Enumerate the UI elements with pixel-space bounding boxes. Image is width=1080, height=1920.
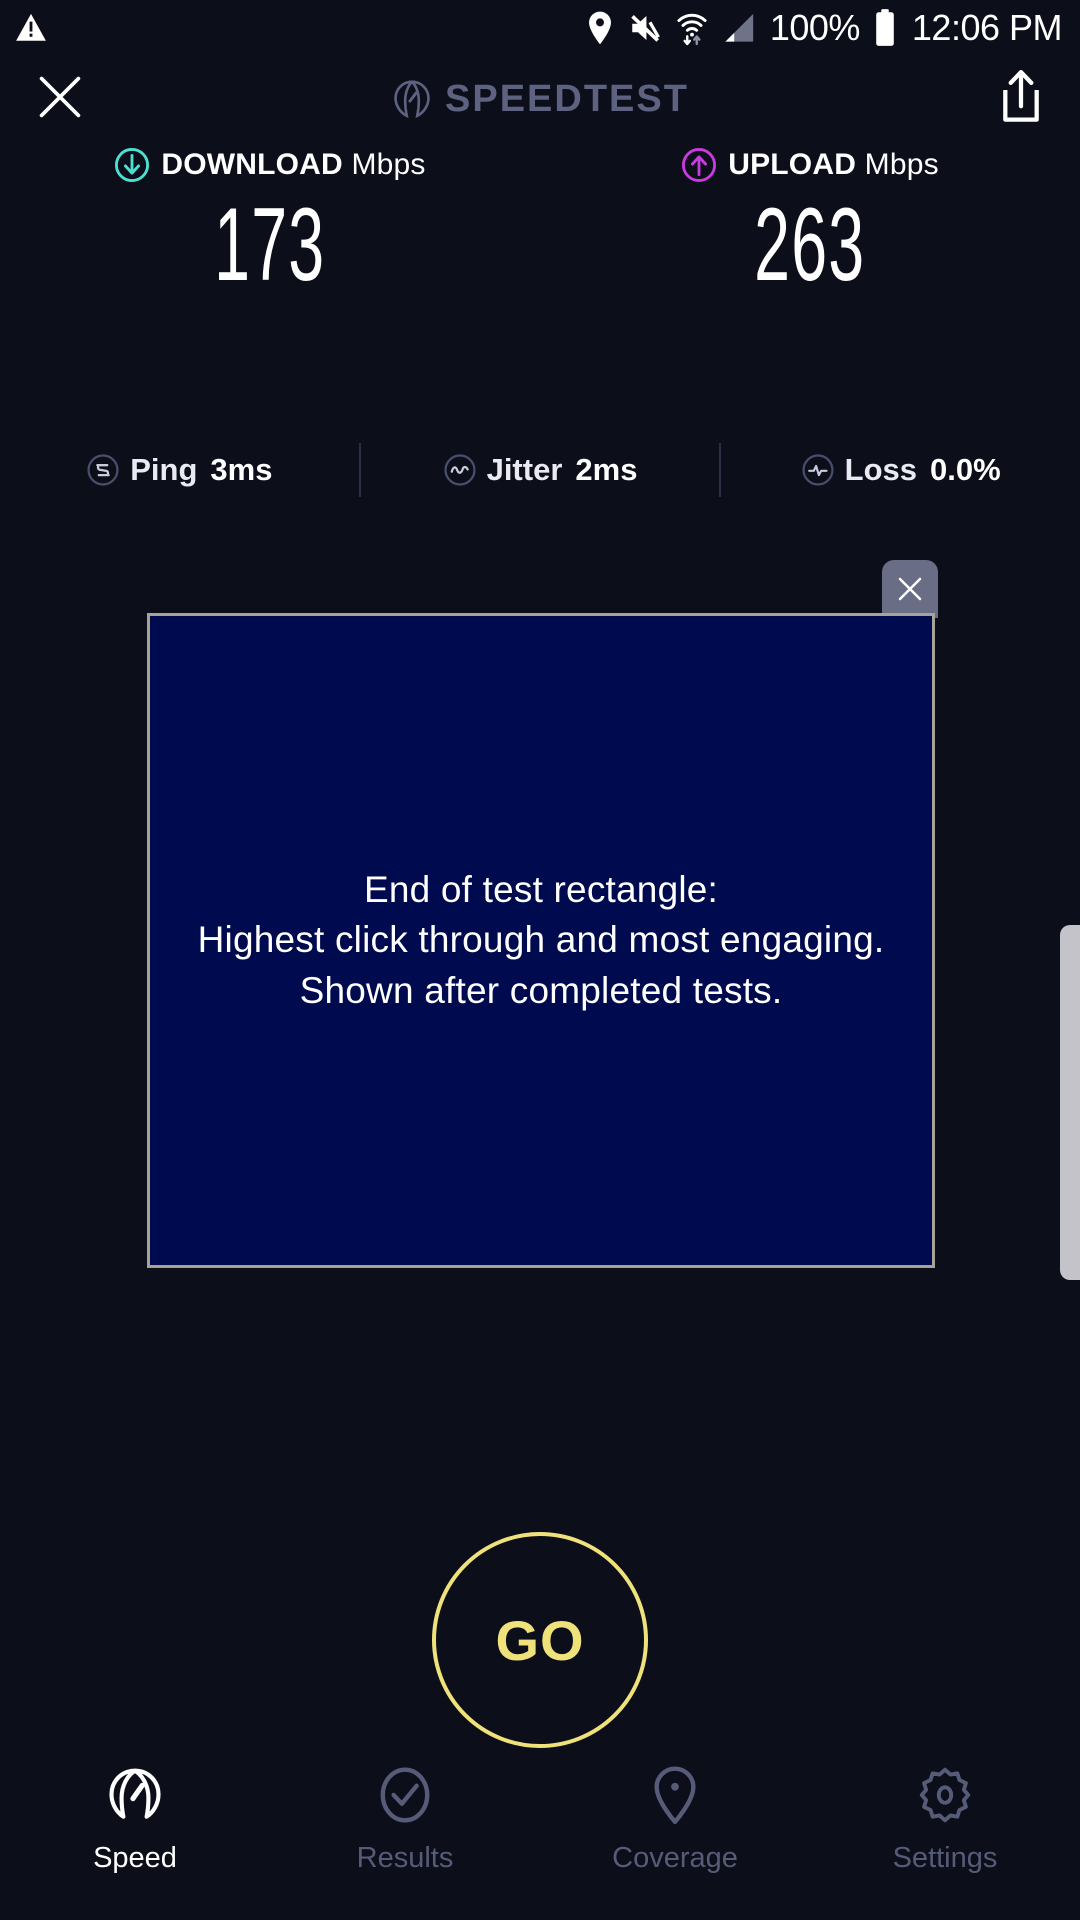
nav-label-settings: Settings: [893, 1842, 998, 1875]
close-icon: [895, 574, 925, 604]
status-bar: 100% 12:06 PM: [0, 0, 1080, 56]
go-button[interactable]: GO: [432, 1532, 648, 1748]
speedtest-app-screen: 100% 12:06 PM SPEEDTEST: [0, 0, 1080, 1920]
loss-value: 0.0%: [930, 452, 1001, 488]
app-header: SPEEDTEST: [0, 56, 1080, 142]
ping-icon: [86, 453, 120, 487]
cell-signal-icon: [722, 12, 756, 44]
upload-result: UPLOAD Mbps 263: [540, 142, 1080, 294]
wifi-icon: [676, 10, 708, 46]
download-result: DOWNLOAD Mbps 173: [0, 142, 540, 294]
nav-item-results[interactable]: Results: [270, 1762, 540, 1875]
status-bar-left: [14, 11, 48, 45]
nav-label-speed: Speed: [93, 1842, 177, 1875]
speedometer-icon: [391, 78, 433, 120]
metric-jitter: Jitter 2ms: [361, 452, 720, 488]
ad-close-button[interactable]: [882, 560, 938, 618]
nav-item-settings[interactable]: Settings: [810, 1762, 1080, 1875]
advertisement-banner[interactable]: End of test rectangle: Highest click thr…: [147, 613, 935, 1268]
loss-label: Loss: [845, 452, 917, 488]
upload-arrow-icon: [681, 147, 717, 183]
speedometer-icon: [104, 1762, 166, 1828]
jitter-value: 2ms: [575, 452, 637, 488]
upload-value: 263: [754, 198, 865, 294]
location-pin-icon: [644, 1762, 706, 1828]
metric-loss: Loss 0.0%: [721, 452, 1080, 488]
status-bar-clock: 12:06 PM: [912, 7, 1062, 49]
speeds-row: DOWNLOAD Mbps 173 UPLOAD Mbps: [0, 142, 1080, 294]
download-unit: Mbps: [351, 148, 425, 181]
nav-item-speed[interactable]: Speed: [0, 1762, 270, 1875]
metric-ping: Ping 3ms: [0, 452, 359, 488]
bottom-navigation: Speed Results Coverage Settings: [0, 1750, 1080, 1920]
share-icon: [996, 69, 1046, 125]
download-header: DOWNLOAD Mbps: [114, 142, 425, 188]
page-title: SPEEDTEST: [445, 78, 689, 121]
location-pin-icon: [586, 10, 614, 46]
vertical-scrollbar[interactable]: [1060, 925, 1080, 1280]
jitter-label: Jitter: [487, 452, 563, 488]
battery-full-icon: [874, 9, 896, 47]
upload-label-text: UPLOAD: [728, 148, 856, 181]
jitter-icon: [443, 453, 477, 487]
results-summary: DOWNLOAD Mbps 173 UPLOAD Mbps: [0, 142, 1080, 294]
ad-text: End of test rectangle: Highest click thr…: [198, 865, 885, 1016]
ping-value: 3ms: [210, 452, 272, 488]
check-circle-icon: [374, 1762, 436, 1828]
go-button-label: GO: [495, 1608, 584, 1673]
ping-label: Ping: [130, 452, 197, 488]
nav-label-coverage: Coverage: [612, 1842, 738, 1875]
status-bar-right: 100% 12:06 PM: [586, 7, 1062, 49]
share-button[interactable]: [996, 69, 1046, 130]
upload-unit: Mbps: [865, 148, 939, 181]
metrics-row: Ping 3ms Jitter 2ms Loss 0.0%: [0, 442, 1080, 498]
gear-icon: [914, 1762, 976, 1828]
nav-item-coverage[interactable]: Coverage: [540, 1762, 810, 1875]
upload-label: UPLOAD Mbps: [728, 148, 939, 182]
warning-triangle-icon: [14, 11, 48, 45]
loss-icon: [801, 453, 835, 487]
battery-percent-label: 100%: [770, 7, 860, 49]
close-icon: [34, 71, 86, 123]
nav-label-results: Results: [357, 1842, 454, 1875]
download-arrow-icon: [114, 147, 150, 183]
download-label: DOWNLOAD Mbps: [161, 148, 425, 182]
close-button[interactable]: [34, 71, 86, 128]
mute-icon: [628, 11, 662, 45]
download-value: 173: [214, 198, 325, 294]
app-title-group: SPEEDTEST: [0, 78, 1080, 121]
upload-header: UPLOAD Mbps: [681, 142, 939, 188]
download-label-text: DOWNLOAD: [161, 148, 343, 181]
